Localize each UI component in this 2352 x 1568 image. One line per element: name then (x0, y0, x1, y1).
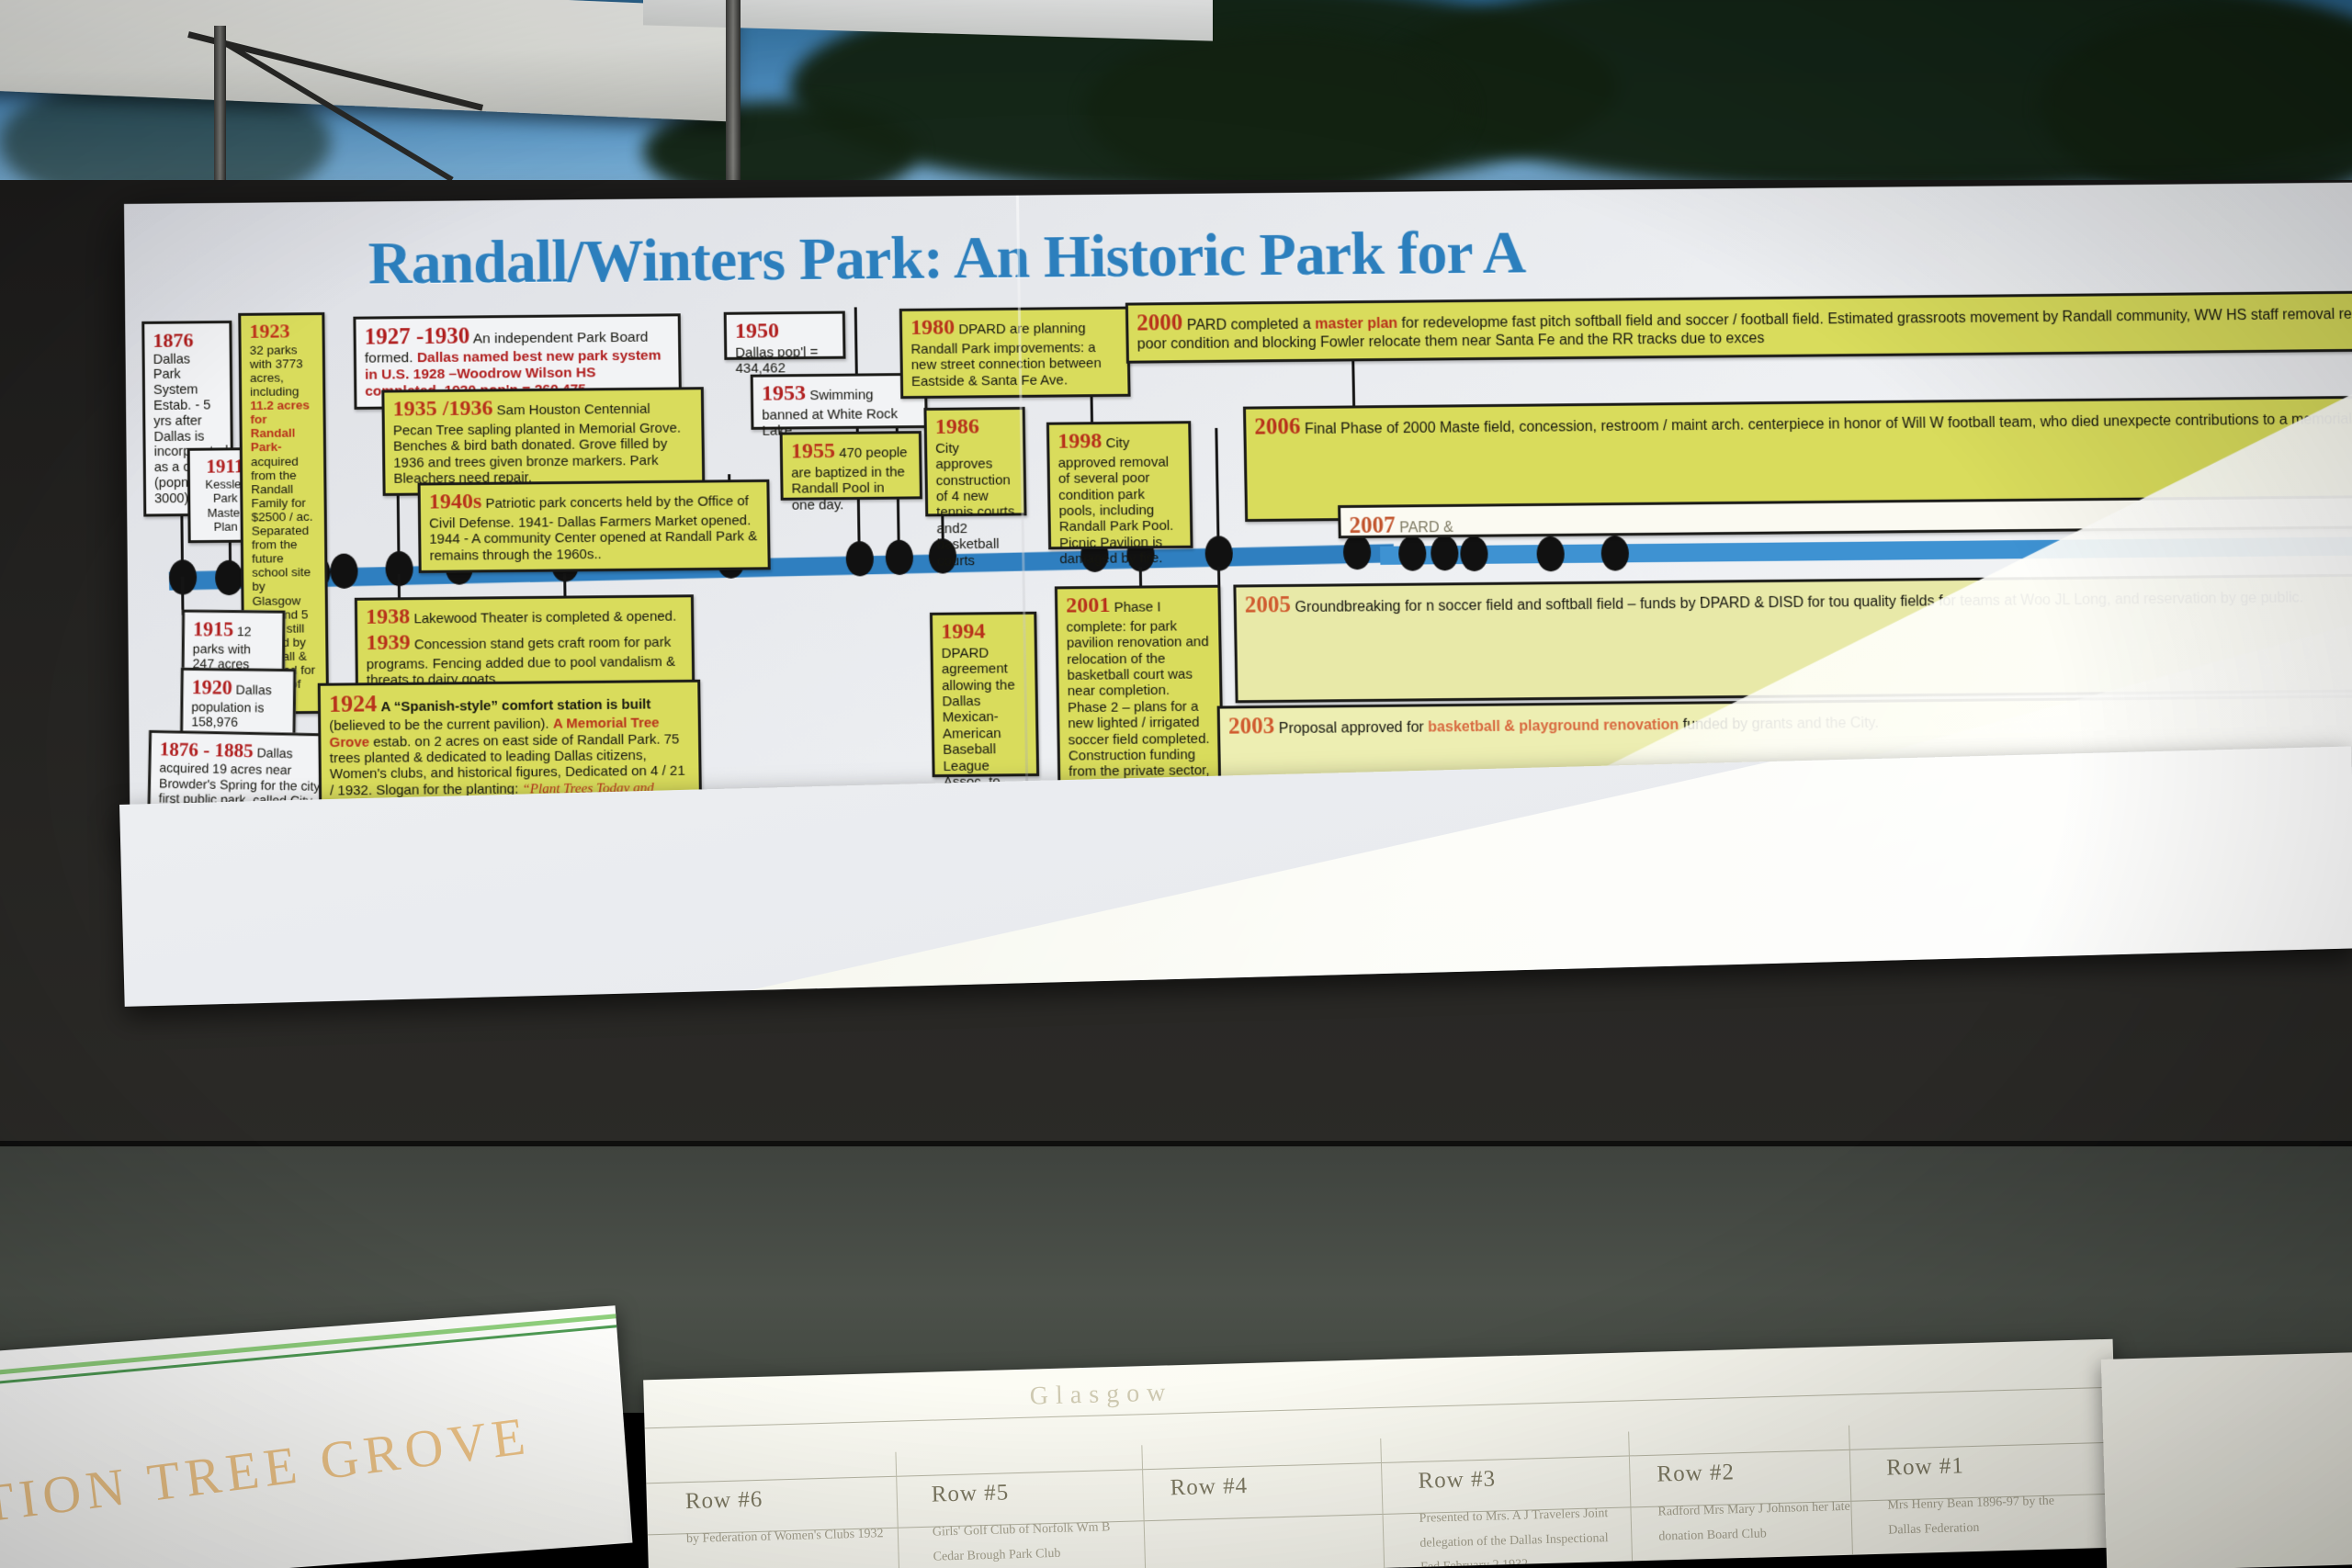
handwritten-ledger: Glasgow Row #6 Row #5 Row #4 Row #3 Row … (643, 1339, 2119, 1568)
event-body-paren: (believed to be the current pavilion). (329, 716, 553, 734)
tent-pole (726, 0, 741, 184)
event-year: 2000 (1136, 310, 1183, 336)
ledger-cell: Girls' Golf Club of Norfolk Wm B Cedar B… (933, 1516, 1136, 1568)
event-year: 2001 (1066, 593, 1111, 618)
event-year: 1876 (153, 328, 193, 351)
event-card-1920[interactable]: 1920 Dallas population is 158,976 (180, 668, 296, 739)
event-body-pre: Proposal approved for (1279, 719, 1429, 737)
event-year: 1935 /1936 (392, 396, 492, 421)
event-body-post: funded by grants and the City. (1679, 716, 1879, 733)
event-year: 1986 (935, 414, 1015, 441)
event-year: 2005 (1245, 592, 1292, 618)
ledger-column-header: Row #1 (1886, 1453, 1964, 1481)
event-year: 1955 (791, 439, 835, 464)
ledger-column-rule (895, 1452, 899, 1568)
event-year: 2003 (1228, 714, 1275, 739)
ledger-column-header: Row #3 (1418, 1467, 1496, 1495)
screenshot-root: Randall/Winters Park: An Historic Park f… (0, 0, 2352, 1568)
event-card-1955[interactable]: 1955 470 people are baptized in the Rand… (780, 431, 922, 501)
event-year: 1940s (429, 490, 482, 514)
event-body: Dallas pop'l = 434,462 (735, 344, 835, 378)
timeline-poster: Randall/Winters Park: An Historic Park f… (124, 183, 2352, 840)
ledger-column-rule (1380, 1438, 1385, 1568)
ledger-column-rule (1141, 1445, 1146, 1568)
event-body: Lakewood Theater is completed & opened. (413, 608, 676, 626)
timeline-node (845, 541, 874, 576)
timeline-node (1430, 536, 1459, 570)
timeline-node (330, 553, 358, 588)
timeline-node (1343, 535, 1372, 570)
ledger-column-header: Row #2 (1657, 1460, 1735, 1487)
event-year: 1938 (366, 604, 410, 629)
event-year: 1920 (192, 675, 232, 699)
ledger-column-header: Row #4 (1170, 1473, 1248, 1501)
ledger-cell: Radford Mrs Mary J Johnson her late dona… (1657, 1495, 1860, 1549)
tree-grove-poster: RATION TREE GROVE (0, 1305, 632, 1568)
tent-pole (214, 26, 226, 186)
event-year: 1876 - 1885 (160, 738, 254, 761)
event-card-2000[interactable]: 2000 PARD completed a master plan for re… (1125, 290, 2352, 363)
event-body: City approves construction of 4 new tenn… (935, 440, 1016, 570)
tree-foliage (1084, 28, 1470, 193)
event-year: 1998 (1057, 429, 1102, 454)
ledger-rule (645, 1384, 2119, 1428)
event-body: City approved removal of several poor co… (1058, 435, 1174, 568)
event-body-pre: PARD completed a (1187, 317, 1316, 333)
ledger-column-rule (1628, 1431, 1633, 1568)
event-year: 1915 (193, 617, 233, 640)
event-body-pre: 32 parks with 3773 acres, including (250, 343, 303, 399)
event-year: 1939 (366, 630, 410, 655)
handwritten-ledger-right-page (2101, 1352, 2352, 1568)
event-body: PARD & (1399, 520, 1453, 536)
event-year: 1924 (329, 690, 378, 717)
event-card-2005[interactable]: 2005 Groundbreaking for n soccer field a… (1233, 573, 2352, 703)
event-year: 1994 (941, 619, 1026, 646)
ledger-title: Glasgow (1029, 1378, 1172, 1411)
timeline-node (215, 560, 243, 595)
event-year: 2006 (1254, 414, 1301, 440)
ledger-cell (1170, 1508, 1373, 1514)
ledger-cell: Mrs Henry Bean 1896-97 by the Dallas Fed… (1887, 1488, 2090, 1542)
timeline-connector (1215, 428, 1219, 536)
event-year: 1953 (762, 381, 806, 406)
ledger-column-header: Row #5 (931, 1480, 1009, 1507)
event-year: 1923 (249, 320, 313, 343)
event-card-2001[interactable]: 2001 Phase I complete: for park pavilion… (1055, 585, 1224, 792)
page-title: Randall/Winters Park: An Historic Park f… (367, 209, 2352, 299)
event-card-1940s[interactable]: 1940s Patriotic park concerts held by th… (418, 479, 771, 573)
tree-grove-poster-title: RATION TREE GROVE (0, 1369, 632, 1545)
ledger-column-header: Row #6 (684, 1487, 763, 1515)
event-body-pre: A “Spanish-style” comfort station is bui… (380, 696, 650, 715)
event-body: Groundbreaking for n soccer field and so… (1295, 590, 2303, 615)
event-card-1994[interactable]: 1994 DPARD agreement allowing the Dallas… (930, 612, 1039, 777)
event-body-highlight: basketball & playground renovation (1428, 717, 1679, 736)
event-card-1998[interactable]: 1998 City approved removal of several po… (1046, 421, 1193, 549)
event-card-1986[interactable]: 1986 City approves construction of 4 new… (923, 407, 1026, 516)
timeline-spine (1380, 536, 2352, 564)
timeline-node (1600, 536, 1629, 570)
event-body-highlight: 11.2 acres for Randall Park- (250, 398, 310, 454)
timeline-node (886, 540, 914, 575)
timeline-node (1536, 536, 1565, 571)
event-year: 2007 (1349, 513, 1396, 538)
timeline-node (1460, 536, 1488, 571)
event-year: 1980 (910, 315, 955, 340)
timeline-node (1398, 536, 1427, 570)
event-body-highlight: master plan (1315, 316, 1397, 333)
ledger-cell: Presented to Mrs. A J Travelers Joint de… (1419, 1502, 1623, 1568)
event-year: 1950 (735, 319, 834, 345)
event-year: 1927 -1930 (365, 323, 470, 349)
event-card-1950[interactable]: 1950 Dallas pop'l = 434,462 (724, 311, 846, 360)
event-card-1980[interactable]: 1980 DPARD are planning Randall Park imp… (899, 307, 1131, 400)
event-body: Final Phase of 2000 Maste field, concess… (1305, 412, 2352, 437)
ledger-cell: by Federation of Women's Clubs 1932 (686, 1522, 889, 1552)
